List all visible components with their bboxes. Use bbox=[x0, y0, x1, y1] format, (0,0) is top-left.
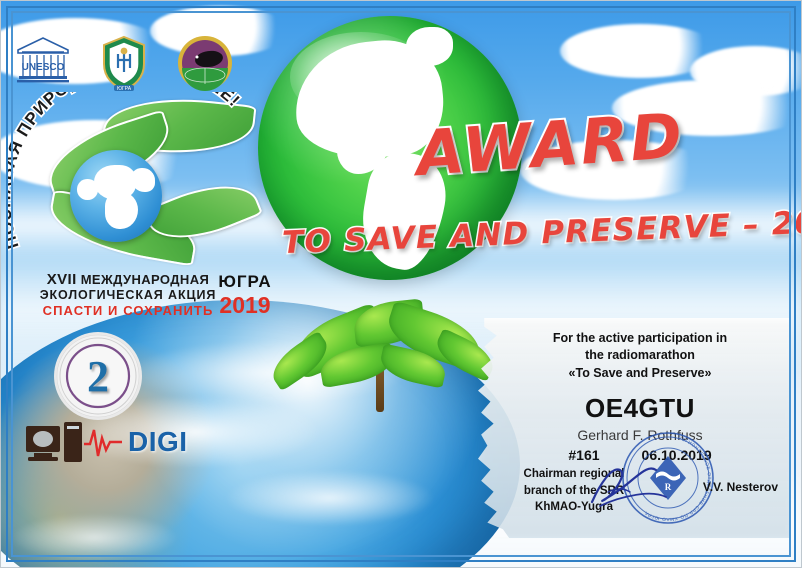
campaign-line-2: ЭКОЛОГИЧЕСКАЯ АКЦИЯ bbox=[22, 288, 234, 303]
digi-mode-row: DIGI bbox=[24, 420, 214, 466]
seedling-plant-graphic bbox=[258, 300, 508, 440]
svg-text:ЮГРА: ЮГРА bbox=[117, 86, 132, 92]
signer-name: V.V. Nesterov bbox=[703, 480, 778, 494]
region-label: ЮГРА bbox=[206, 272, 284, 292]
rank-medallion: 2 bbox=[52, 330, 144, 422]
unesco-logo: UNESCO bbox=[14, 34, 72, 84]
award-certificate: ПОЗНАВАЯ ПРИРОДУ, СОХРАНЯЙ ЕЁ! bbox=[0, 0, 802, 568]
panel-heading: For the active participation in the radi… bbox=[504, 330, 776, 382]
arched-slogan-textpath: ПОЗНАВАЯ ПРИРОДУ, СОХРАНЯЙ ЕЁ! bbox=[8, 92, 244, 251]
campaign-year: 2019 bbox=[206, 294, 284, 317]
panel-heading-line-1: For the active participation in bbox=[504, 330, 776, 347]
medallion-number: 2 bbox=[52, 330, 144, 422]
campaign-line-1: XVII МЕЖДУНАРОДНАЯ bbox=[22, 271, 234, 288]
yugra-coat-of-arms-logo: ЮГРА bbox=[98, 34, 150, 92]
digi-mode-label: DIGI bbox=[128, 426, 188, 458]
campaign-text-block: XVII МЕЖДУНАРОДНАЯ ЭКОЛОГИЧЕСКАЯ АКЦИЯ С… bbox=[22, 271, 234, 318]
globe-highlight bbox=[290, 32, 433, 122]
campaign-line-1-rest: МЕЖДУНАРОДНАЯ bbox=[81, 272, 210, 287]
arched-slogan-text: ПОЗНАВАЯ ПРИРОДУ, СОХРАНЯЙ ЕЁ! bbox=[8, 92, 276, 278]
ecology-emblem-logo bbox=[176, 34, 234, 92]
region-year-block: ЮГРА 2019 bbox=[206, 272, 284, 317]
panel-heading-line-2: the radiomarathon bbox=[504, 347, 776, 364]
logo-row: UNESCO ЮГРА bbox=[14, 34, 234, 92]
svg-text:ПОЗНАВАЯ ПРИРОДУ, СОХРАНЯЙ ЕЁ!: ПОЗНАВАЯ ПРИРОДУ, СОХРАНЯЙ ЕЁ! bbox=[8, 92, 244, 251]
eco-emblem-graphic: ПОЗНАВАЯ ПРИРОДУ, СОХРАНЯЙ ЕЁ! bbox=[8, 92, 276, 278]
handwritten-signature bbox=[586, 444, 696, 520]
svg-text:UNESCO: UNESCO bbox=[22, 62, 65, 73]
callsign: OE4GTU bbox=[504, 393, 776, 424]
campaign-roman-numeral: XVII bbox=[47, 271, 77, 288]
award-panel: For the active participation in the radi… bbox=[478, 318, 790, 538]
panel-heading-line-3: «To Save and Preserve» bbox=[504, 365, 776, 382]
campaign-line-3: СПАСТИ И СОХРАНИТЬ bbox=[22, 303, 234, 318]
